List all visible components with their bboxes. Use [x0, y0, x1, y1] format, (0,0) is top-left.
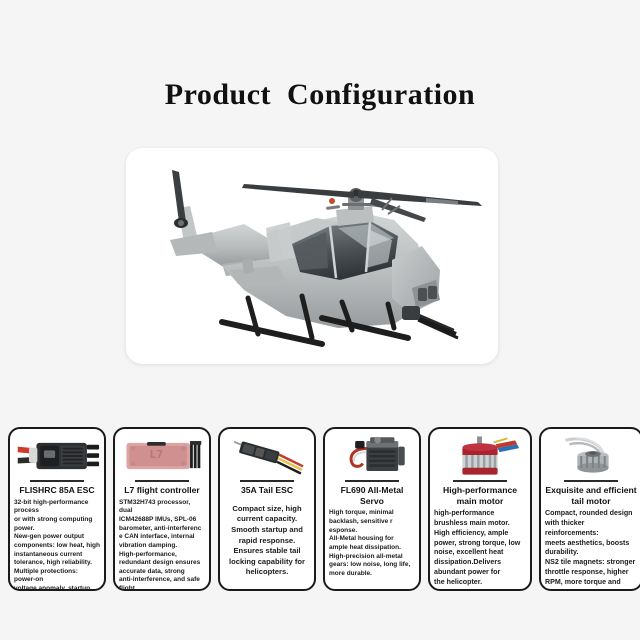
card-divider — [345, 480, 399, 482]
svg-text:L7: L7 — [150, 449, 164, 461]
spec-card-body: high-performance brushless main motor. H… — [434, 509, 526, 587]
tail-esc-icon — [224, 433, 310, 479]
product-spec-card-strip: FLISHRC 85A ESC 32-bit high-performance … — [0, 427, 640, 591]
spec-card-35a-tail-esc[interactable]: 35A Tail ESC Compact size, high current … — [218, 427, 316, 591]
servo-icon — [329, 433, 415, 479]
spec-card-body: High torque, minimal backlash, sensitive… — [329, 509, 415, 586]
rc-helicopter-photo — [126, 148, 498, 364]
spec-card-body: Compact size, high current capacity. Smo… — [224, 504, 310, 586]
spec-card-title: FL690 All-Metal Servo — [329, 485, 415, 506]
card-divider — [30, 480, 84, 482]
spec-card-title: Exquisite and efficient tail motor — [545, 485, 637, 506]
spec-card-title: L7 flight controller — [119, 485, 205, 496]
spec-card-flishrc-85a-esc[interactable]: FLISHRC 85A ESC 32-bit high-performance … — [8, 427, 106, 591]
brushless-tail-motor-icon — [545, 433, 637, 479]
card-divider — [453, 480, 507, 482]
spec-card-fl690-all-metal-servo[interactable]: FL690 All-Metal Servo High torque, minim… — [323, 427, 421, 591]
card-divider — [135, 480, 189, 482]
esc-module-icon — [14, 433, 100, 479]
spec-card-title: High-performance main motor — [434, 485, 526, 506]
brushless-main-motor-icon — [434, 433, 526, 479]
hero-product-image-card — [126, 148, 498, 364]
spec-card-body: Compact, rounded design with thicker rei… — [545, 509, 637, 591]
spec-card-title: FLISHRC 85A ESC — [14, 485, 100, 496]
spec-card-l7-flight-controller[interactable]: L7 L7 flight controller STM32H743 proces… — [113, 427, 211, 591]
spec-card-body: 32-bit high-performance process or with … — [14, 499, 100, 591]
spec-card-exquisite-efficient-tail-motor[interactable]: Exquisite and efficient tail motor Compa… — [539, 427, 640, 591]
card-divider — [564, 480, 618, 482]
page-title: Product Configuration — [0, 78, 640, 112]
spec-card-high-performance-main-motor[interactable]: High-performance main motor high-perform… — [428, 427, 532, 591]
spec-card-body: STM32H743 processor, dual ICM42688P IMUs… — [119, 499, 205, 591]
card-divider — [240, 480, 294, 482]
spec-card-title: 35A Tail ESC — [224, 485, 310, 496]
flight-controller-icon: L7 — [119, 433, 205, 479]
